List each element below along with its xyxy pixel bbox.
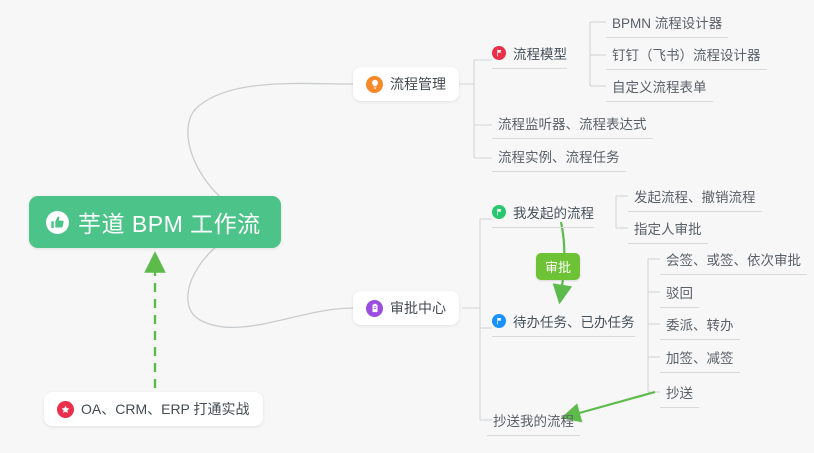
leaf-reject[interactable]: 驳回 bbox=[660, 282, 699, 308]
leaf-label: 钉钉（飞书）流程设计器 bbox=[612, 48, 761, 63]
approval-tag[interactable]: 审批 bbox=[536, 253, 580, 280]
leaf-cc[interactable]: 抄送 bbox=[660, 382, 699, 408]
approval-tag-label: 审批 bbox=[545, 260, 571, 275]
branch-node-approval-center[interactable]: 审批中心 bbox=[353, 291, 459, 325]
leaf-label: 指定人审批 bbox=[634, 222, 702, 237]
leaf-instance-task[interactable]: 流程实例、流程任务 bbox=[492, 146, 626, 172]
leaf-label: 加签、减签 bbox=[666, 351, 734, 366]
leaf-label: 流程实例、流程任务 bbox=[498, 150, 620, 165]
node-process-model[interactable]: 流程模型 bbox=[492, 43, 567, 69]
leaf-countersign[interactable]: 会签、或签、依次审批 bbox=[660, 249, 807, 275]
mindmap-canvas: 芋道 BPM 工作流 流程管理 审批中心 OA、CRM、ERP 打通实战 bbox=[0, 0, 814, 453]
node-label-todo-done: 待办任务、已办任务 bbox=[513, 311, 635, 331]
star-icon bbox=[57, 401, 74, 418]
branch-label-process-management: 流程管理 bbox=[390, 74, 446, 94]
leaf-label: 会签、或签、依次审批 bbox=[666, 253, 801, 268]
node-my-initiated[interactable]: 我发起的流程 bbox=[492, 202, 594, 228]
leaf-label: 发起流程、撤销流程 bbox=[634, 190, 756, 205]
branch-label-approval-center: 审批中心 bbox=[390, 298, 446, 318]
callout-node-oa[interactable]: OA、CRM、ERP 打通实战 bbox=[44, 392, 263, 426]
leaf-label: 自定义流程表单 bbox=[612, 80, 707, 95]
leaf-bpmn-designer[interactable]: BPMN 流程设计器 bbox=[606, 12, 728, 38]
leaf-assignee-approval[interactable]: 指定人审批 bbox=[628, 218, 708, 244]
leaf-label: 流程监听器、流程表达式 bbox=[498, 117, 647, 132]
clipboard-icon bbox=[366, 300, 383, 317]
leaf-label: BPMN 流程设计器 bbox=[612, 16, 722, 31]
leaf-start-cancel-process[interactable]: 发起流程、撤销流程 bbox=[628, 186, 762, 212]
leaf-label: 驳回 bbox=[666, 286, 693, 301]
node-label-my-initiated: 我发起的流程 bbox=[513, 202, 594, 222]
flag-icon bbox=[492, 46, 506, 60]
leaf-dingtalk-designer[interactable]: 钉钉（飞书）流程设计器 bbox=[606, 44, 767, 70]
leaf-delegate-transfer[interactable]: 委派、转办 bbox=[660, 314, 740, 340]
leaf-add-remove-sign[interactable]: 加签、减签 bbox=[660, 347, 740, 373]
node-todo-done-tasks[interactable]: 待办任务、已办任务 bbox=[492, 311, 635, 337]
leaf-label: 抄送 bbox=[666, 386, 693, 401]
lightbulb-icon bbox=[366, 76, 383, 93]
root-node[interactable]: 芋道 BPM 工作流 bbox=[29, 196, 281, 248]
flag-icon bbox=[492, 205, 506, 219]
leaf-label: 抄送我的流程 bbox=[493, 414, 574, 429]
leaf-listener-expression[interactable]: 流程监听器、流程表达式 bbox=[492, 113, 653, 139]
flag-icon bbox=[492, 314, 506, 328]
callout-label-oa: OA、CRM、ERP 打通实战 bbox=[81, 399, 250, 419]
node-label-process-model: 流程模型 bbox=[513, 43, 567, 63]
thumbs-up-icon bbox=[46, 211, 69, 234]
branch-node-process-management[interactable]: 流程管理 bbox=[353, 67, 459, 101]
leaf-label: 委派、转办 bbox=[666, 318, 734, 333]
leaf-cc-to-me[interactable]: 抄送我的流程 bbox=[487, 410, 580, 436]
leaf-custom-form[interactable]: 自定义流程表单 bbox=[606, 76, 713, 102]
root-label: 芋道 BPM 工作流 bbox=[78, 205, 261, 239]
